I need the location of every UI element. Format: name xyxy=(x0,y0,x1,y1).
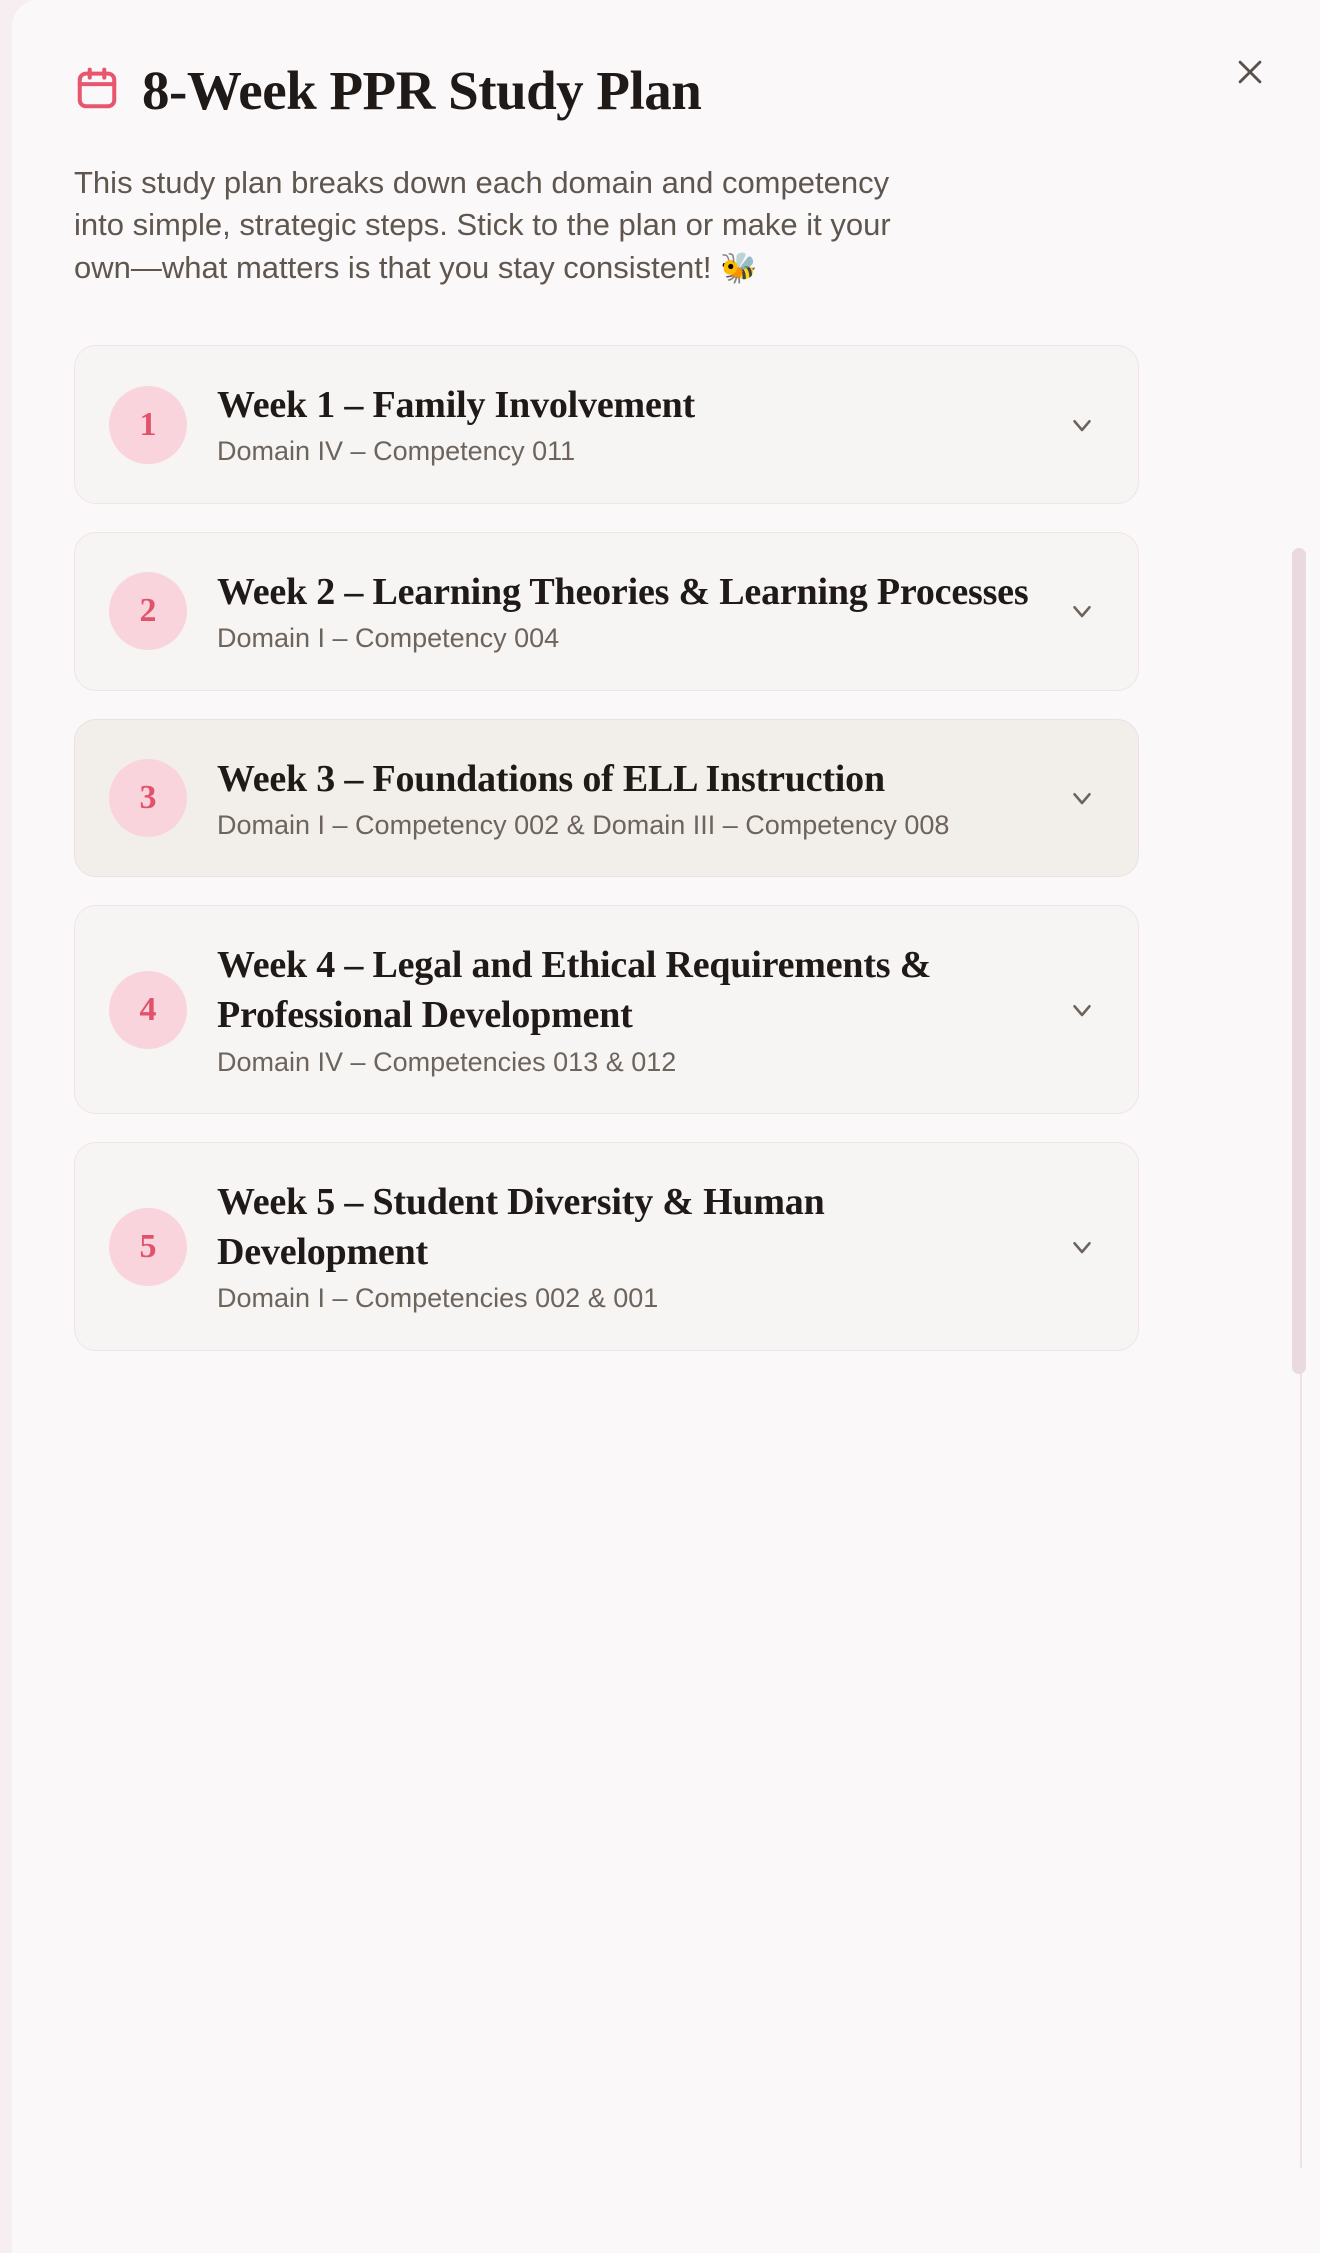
week-number-label: 1 xyxy=(140,408,157,442)
week-title: Week 1 – Family Involvement xyxy=(217,380,1036,430)
week-accordion-item[interactable]: 5Week 5 – Student Diversity & Human Deve… xyxy=(74,1142,1139,1351)
week-accordion-scroll-area[interactable]: 1Week 1 – Family InvolvementDomain IV – … xyxy=(12,345,1320,2045)
close-modal-button[interactable] xyxy=(1222,44,1278,100)
chevron-down-icon[interactable] xyxy=(1060,1225,1104,1269)
week-subtitle: Domain I – Competency 002 & Domain III –… xyxy=(217,808,1036,843)
week-number-badge: 2 xyxy=(109,572,187,650)
week-subtitle: Domain IV – Competencies 013 & 012 xyxy=(217,1045,1036,1080)
week-accordion-item[interactable]: 4Week 4 – Legal and Ethical Requirements… xyxy=(74,905,1139,1114)
week-title: Week 3 – Foundations of ELL Instruction xyxy=(217,754,1036,804)
week-number-badge: 5 xyxy=(109,1208,187,1286)
week-number-label: 5 xyxy=(140,1230,157,1264)
week-text-block: Week 5 – Student Diversity & Human Devel… xyxy=(217,1177,1060,1316)
week-accordion-item[interactable]: 1Week 1 – Family InvolvementDomain IV – … xyxy=(74,345,1139,504)
week-number-label: 3 xyxy=(140,781,157,815)
week-accordion-list: 1Week 1 – Family InvolvementDomain IV – … xyxy=(74,345,1139,1351)
chevron-down-icon[interactable] xyxy=(1060,589,1104,633)
week-number-label: 2 xyxy=(140,594,157,628)
week-accordion-item[interactable]: 2Week 2 – Learning Theories & Learning P… xyxy=(74,532,1139,691)
chevron-down-icon[interactable] xyxy=(1060,403,1104,447)
week-subtitle: Domain IV – Competency 011 xyxy=(217,434,1036,469)
week-text-block: Week 3 – Foundations of ELL InstructionD… xyxy=(217,754,1060,843)
study-plan-modal: 8-Week PPR Study Plan This study plan br… xyxy=(12,0,1320,2253)
week-text-block: Week 2 – Learning Theories & Learning Pr… xyxy=(217,567,1060,656)
week-subtitle: Domain I – Competency 004 xyxy=(217,621,1036,656)
page-title: 8-Week PPR Study Plan xyxy=(142,62,701,120)
week-title: Week 2 – Learning Theories & Learning Pr… xyxy=(217,567,1036,617)
week-number-label: 4 xyxy=(140,993,157,1027)
week-text-block: Week 1 – Family InvolvementDomain IV – C… xyxy=(217,380,1060,469)
modal-header: 8-Week PPR Study Plan xyxy=(12,0,1320,120)
week-subtitle: Domain I – Competencies 002 & 001 xyxy=(217,1281,1036,1316)
week-title: Week 4 – Legal and Ethical Requirements … xyxy=(217,940,1036,1040)
scrollbar-thumb[interactable] xyxy=(1292,548,1306,1374)
week-number-badge: 1 xyxy=(109,386,187,464)
chevron-down-icon[interactable] xyxy=(1060,988,1104,1032)
modal-overlay: 8-Week PPR Study Plan This study plan br… xyxy=(0,0,1320,2253)
week-text-block: Week 4 – Legal and Ethical Requirements … xyxy=(217,940,1060,1079)
modal-description: This study plan breaks down each domain … xyxy=(74,162,914,289)
calendar-icon xyxy=(74,65,120,116)
description-text: This study plan breaks down each domain … xyxy=(74,165,891,285)
week-number-badge: 4 xyxy=(109,971,187,1049)
week-title: Week 5 – Student Diversity & Human Devel… xyxy=(217,1177,1036,1277)
close-icon xyxy=(1233,55,1267,89)
week-number-badge: 3 xyxy=(109,759,187,837)
week-accordion-item[interactable]: 3Week 3 – Foundations of ELL Instruction… xyxy=(74,719,1139,878)
chevron-down-icon[interactable] xyxy=(1060,776,1104,820)
bee-emoji: 🐝 xyxy=(720,252,757,285)
